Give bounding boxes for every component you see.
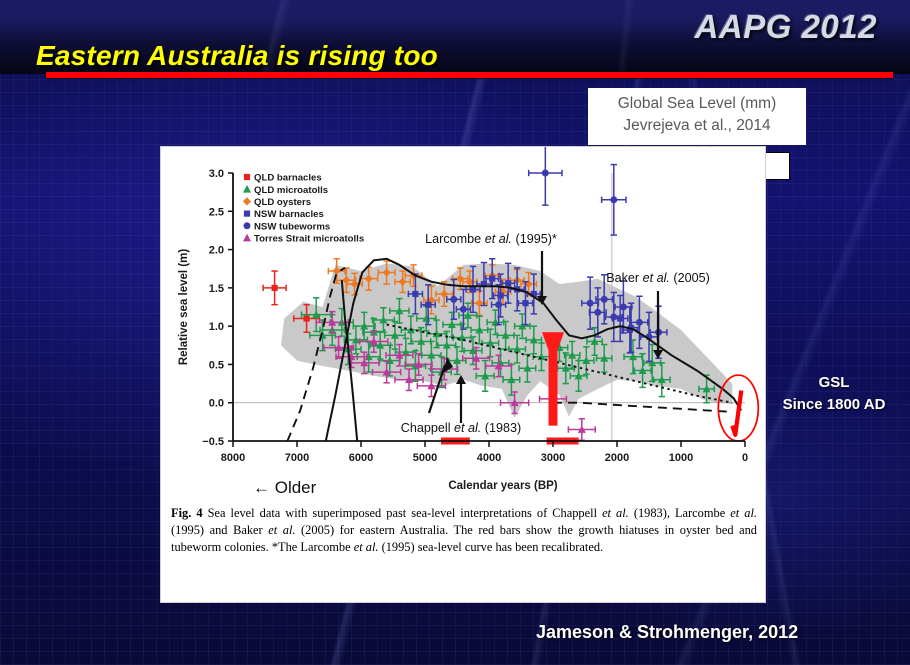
x-axis-title: Calendar years (BP) — [448, 480, 557, 492]
y-tick-label: 2.0 — [209, 245, 224, 257]
attribution-label: Jameson & Strohmenger, 2012 — [536, 622, 798, 643]
chart-legend: QLD barnaclesQLD microatollsQLD oystersN… — [243, 173, 364, 245]
y-tick-label: 1.5 — [209, 283, 224, 295]
slide-title: Eastern Australia is rising too — [36, 40, 438, 72]
x-tick-label: 7000 — [285, 452, 309, 464]
x-tick-label: 2000 — [605, 452, 629, 464]
legend-item-label: QLD microatolls — [254, 185, 328, 196]
y-tick-label: −0.5 — [202, 436, 224, 448]
y-tick-label: 3.0 — [209, 168, 224, 180]
gsl-source-box: Global Sea Level (mm) Jevrejeva et al., … — [588, 88, 806, 145]
svg-text:Chappell et al. (1983): Chappell et al. (1983) — [401, 421, 521, 435]
title-underline-rule — [46, 72, 893, 78]
x-tick-label: 5000 — [413, 452, 437, 464]
gsl-source-line1: Global Sea Level (mm) — [597, 93, 797, 115]
x-tick-label: 6000 — [349, 452, 373, 464]
y-tick-label: 0.5 — [209, 359, 224, 371]
legend-item-label: QLD oysters — [254, 197, 311, 208]
y-tick-label: 1.0 — [209, 321, 224, 333]
older-direction-label: ← Older — [253, 478, 317, 497]
legend-item-label: QLD barnacles — [254, 173, 322, 184]
x-tick-label: 3000 — [541, 452, 565, 464]
gsl-right-line1: GSL — [760, 372, 908, 394]
svg-text:Baker et al. (2005): Baker et al. (2005) — [606, 271, 710, 285]
x-tick-label: 8000 — [221, 452, 245, 464]
slide: AAPG 2012 Eastern Australia is rising to… — [0, 0, 910, 665]
figure-caption-text: Sea level data with superimposed past se… — [171, 506, 757, 554]
gsl-right-line2: Since 1800 AD — [760, 394, 908, 416]
x-tick-label: 0 — [742, 452, 748, 464]
conference-name: AAPG 2012 — [695, 8, 877, 46]
x-tick-label: 1000 — [669, 452, 693, 464]
legend-item-label: Torres Strait microatolls — [254, 234, 364, 245]
svg-text:Larcombe et al. (1995)*: Larcombe et al. (1995)* — [425, 232, 557, 246]
gsl-source-line2: Jevrejeva et al., 2014 — [597, 115, 797, 137]
legend-item-label: NSW barnacles — [254, 209, 324, 220]
figure-caption-prefix: Fig. 4 — [171, 506, 203, 520]
figure-caption: Fig. 4 Sea level data with superimposed … — [171, 505, 757, 556]
y-axis-title: Relative sea level (m) — [178, 249, 190, 366]
legend-item-label: NSW tubeworms — [254, 221, 330, 232]
figure-panel: −0.50.00.51.01.52.02.53.0800070006000500… — [160, 146, 766, 603]
x-tick-label: 4000 — [477, 452, 501, 464]
curve-chappell-1983-flat — [553, 403, 732, 412]
y-tick-label: 2.5 — [209, 206, 224, 218]
gsl-right-label: GSL Since 1800 AD — [760, 372, 908, 416]
chart-area: −0.50.00.51.01.52.02.53.0800070006000500… — [161, 147, 766, 507]
sea-level-scatter-chart: −0.50.00.51.01.52.02.53.0800070006000500… — [161, 147, 766, 507]
y-tick-label: 0.0 — [209, 398, 224, 410]
header-band: AAPG 2012 Eastern Australia is rising to… — [0, 0, 910, 74]
